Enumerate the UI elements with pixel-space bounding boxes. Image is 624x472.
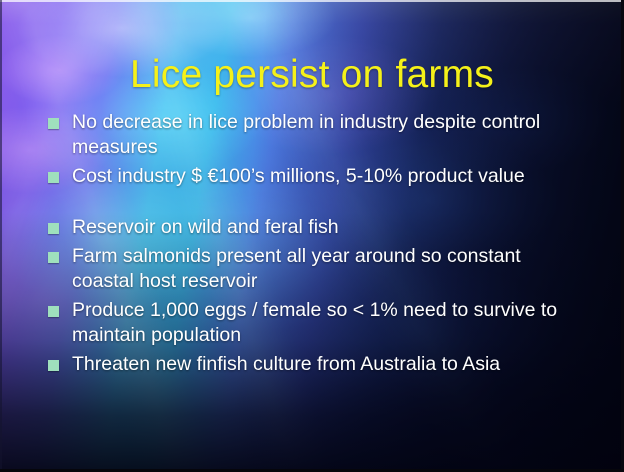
bullet-item: No decrease in lice problem in industry … (48, 110, 600, 160)
bullet-text: Farm salmonids present all year around s… (72, 244, 582, 294)
presentation-slide: Lice persist on farms No decrease in lic… (0, 0, 624, 472)
square-bullet-icon (48, 306, 59, 317)
square-bullet-icon (48, 360, 59, 371)
slide-title: Lice persist on farms (0, 52, 624, 98)
bullet-text: Cost industry $ €100’s millions, 5-10% p… (72, 164, 525, 189)
bullet-text: Threaten new finfish culture from Austra… (72, 352, 500, 377)
bullet-list: No decrease in lice problem in industry … (48, 110, 600, 381)
square-bullet-icon (48, 118, 59, 129)
slide-content: Lice persist on farms No decrease in lic… (0, 0, 624, 472)
bullet-item: Farm salmonids present all year around s… (48, 244, 600, 294)
bullet-item: Produce 1,000 eggs / female so < 1% need… (48, 298, 600, 348)
square-bullet-icon (48, 172, 59, 183)
bullet-text: Produce 1,000 eggs / female so < 1% need… (72, 298, 582, 348)
bullet-item: Cost industry $ €100’s millions, 5-10% p… (48, 164, 600, 189)
square-bullet-icon (48, 223, 59, 234)
bullet-item: Threaten new finfish culture from Austra… (48, 352, 600, 377)
square-bullet-icon (48, 252, 59, 263)
bullet-text: No decrease in lice problem in industry … (72, 110, 582, 160)
bullet-item: Reservoir on wild and feral fish (48, 215, 600, 240)
bullet-text: Reservoir on wild and feral fish (72, 215, 339, 240)
